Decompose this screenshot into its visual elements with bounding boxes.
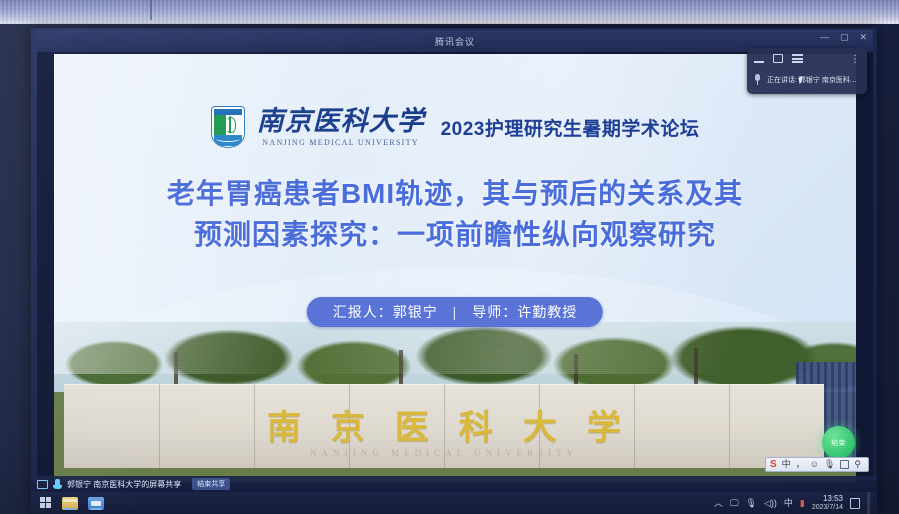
screen-share-bar[interactable]: 郭银宁 南京医科大学的屏幕共享 结束共享 (31, 476, 877, 492)
presenter-name: 汇报人：郭银宁 (333, 304, 438, 320)
speaking-text: 正在讲话: 郭银宁 南京医科大... (767, 75, 862, 85)
taskbar-apps (31, 497, 104, 510)
wall-university-name-en: NANJING MEDICAL UNIVERSITY (64, 448, 824, 458)
floating-end-meeting-button[interactable]: 结束 (822, 426, 855, 459)
close-icon[interactable]: ✕ (859, 33, 867, 42)
campus-photo: 南京医科大学 NANJING MEDICAL UNIVERSITY (54, 322, 856, 482)
windows-start-icon[interactable] (40, 497, 52, 509)
tencent-meeting-window[interactable]: 腾讯会议 — ▢ ✕ (37, 30, 873, 482)
meeting-control-panel[interactable]: ⋮ 正在讲话: 郭银宁 南京医科大... (747, 48, 867, 94)
clock-time: 13:53 (823, 494, 843, 503)
ceiling-strip (0, 0, 899, 26)
restore-icon[interactable] (773, 54, 783, 63)
maximize-icon[interactable]: ▢ (840, 33, 849, 42)
screen-share-icon (37, 480, 48, 489)
university-logo-icon (211, 106, 245, 148)
room-photo-frame: 腾讯会议 — ▢ ✕ (0, 0, 899, 514)
badge-separator: | (453, 304, 458, 320)
slide-title-line-2: 预测因素探究：一项前瞻性纵向观察研究 (54, 215, 856, 256)
folder-icon[interactable] (62, 497, 78, 510)
windows-taskbar[interactable]: ︿ 🖵 🎙 ◁)) 中 ▮ 13:53 2023/7/14 (31, 492, 877, 514)
sogou-ime-toolbar[interactable]: S 中 ， ☺ 🎙 ⚲ (765, 457, 869, 472)
app-icon[interactable] (88, 497, 104, 510)
slide-title: 老年胃癌患者BMI轨迹，其与预后的关系及其 预测因素探究：一项前瞻性纵向观察研究 (54, 174, 856, 255)
floating-ball-label: 结束 (831, 438, 846, 448)
taskbar-clock[interactable]: 13:53 2023/7/14 (812, 494, 843, 511)
forum-name: 2023护理研究生暑期学术论坛 (441, 114, 700, 141)
voice-input-icon[interactable]: 🎙 (824, 460, 835, 469)
toolbox-icon[interactable]: ⚲ (854, 460, 861, 469)
soft-keyboard-icon[interactable] (840, 460, 849, 469)
advisor-name: 导师：许勤教授 (472, 304, 577, 320)
ime-punctuation-toggle[interactable]: ， (796, 460, 805, 469)
window-title: 腾讯会议 (435, 35, 475, 48)
computer-screen: 腾讯会议 — ▢ ✕ (31, 28, 877, 514)
raise-hand-icon[interactable] (53, 479, 62, 489)
notification-icon[interactable] (850, 498, 860, 509)
wall-university-name-cn: 南京医科大学 (64, 400, 824, 449)
slide-header: 南京医科大学 NANJING MEDICAL UNIVERSITY 2023护理… (54, 106, 856, 148)
stop-sharing-button[interactable]: 结束共享 (192, 478, 230, 490)
more-options-icon[interactable]: ⋮ (850, 55, 860, 64)
taskbar-tray: ︿ 🖵 🎙 ◁)) 中 ▮ 13:53 2023/7/14 (714, 492, 877, 514)
participants-list-icon[interactable] (792, 54, 803, 63)
ceiling-seam (150, 0, 152, 20)
ime-mode-toggle[interactable]: 中 (782, 460, 791, 469)
microphone-icon[interactable] (754, 74, 761, 85)
clock-date: 2023/7/14 (812, 504, 843, 512)
ime-tray-icon[interactable]: 中 (784, 499, 793, 508)
sogou-logo-icon: S (770, 460, 777, 470)
slide-title-line-1: 老年胃癌患者BMI轨迹，其与预后的关系及其 (54, 174, 856, 215)
show-desktop-button[interactable] (867, 492, 870, 514)
emoji-icon[interactable]: ☺ (810, 460, 819, 469)
minimize-icon[interactable]: — (820, 33, 829, 42)
campus-wall: 南京医科大学 NANJING MEDICAL UNIVERSITY (64, 384, 824, 468)
monitor-icon[interactable]: 🖵 (730, 499, 739, 508)
presenter-badge: 汇报人：郭银宁 | 导师：许勤教授 (307, 297, 603, 327)
minimize-icon[interactable] (754, 55, 764, 63)
speaking-indicator: 正在讲话: 郭银宁 南京医科大... (754, 74, 862, 85)
screen-share-text: 郭银宁 南京医科大学的屏幕共享 (67, 479, 181, 490)
university-wordmark: 南京医科大学 NANJING MEDICAL UNIVERSITY (257, 108, 425, 147)
university-name-en: NANJING MEDICAL UNIVERSITY (262, 139, 419, 147)
university-name-cn: 南京医科大学 (257, 108, 425, 135)
window-controls: — ▢ ✕ (820, 33, 867, 42)
microphone-icon[interactable]: 🎙 (746, 499, 757, 508)
tray-app-icon[interactable]: ▮ (800, 499, 805, 508)
shared-presentation-slide: 南京医科大学 NANJING MEDICAL UNIVERSITY (54, 54, 856, 482)
chevron-up-icon[interactable]: ︿ (714, 499, 723, 508)
volume-icon[interactable]: ◁)) (764, 499, 777, 508)
panel-button-row (754, 54, 803, 63)
